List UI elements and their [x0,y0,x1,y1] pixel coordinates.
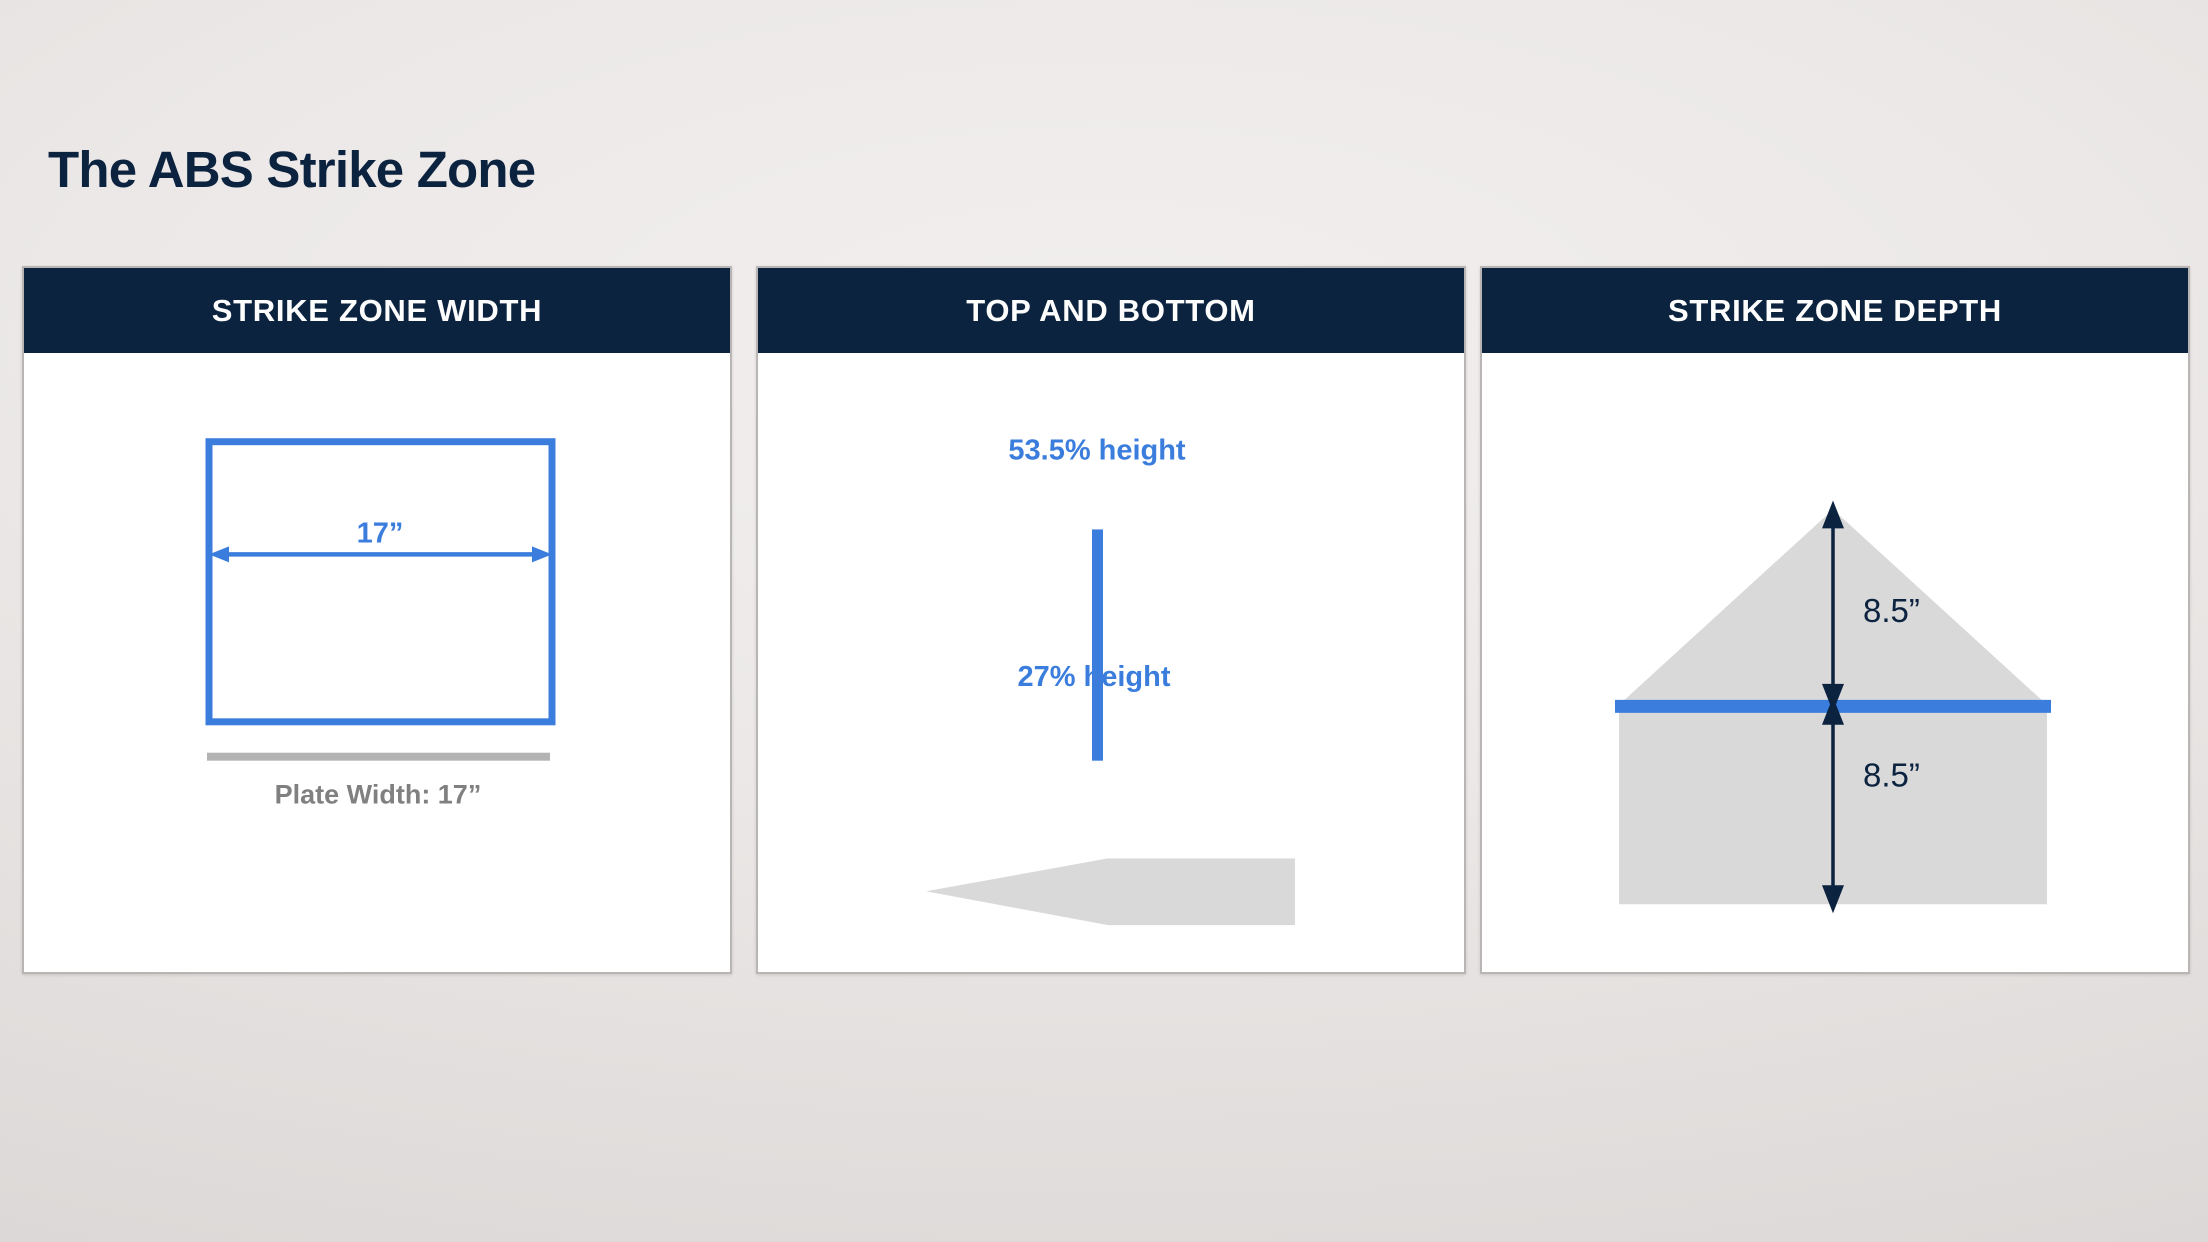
panel-top-and-bottom: TOP AND BOTTOM 53.5% height 27% height [756,266,1466,974]
panel-header-strike-zone-depth: STRIKE ZONE DEPTH [1482,268,2188,353]
plate-width-bar [207,753,550,761]
panel-header-label: TOP AND BOTTOM [966,293,1255,329]
panel-strike-zone-width: STRIKE ZONE WIDTH 17” Plate Width: 17” [22,266,732,974]
panel-strike-zone-depth: STRIKE ZONE DEPTH 8.5” 8.5” [1480,266,2190,974]
home-plate-profile-shape [926,858,1295,925]
zone-bottom-label: 27% height [1017,661,1170,693]
panel-header-strike-zone-width: STRIKE ZONE WIDTH [24,268,730,353]
strike-zone-vertical-bar [1092,529,1103,760]
strike-zone-square [209,442,552,722]
lower-depth-label: 8.5” [1863,757,1920,794]
panel-header-label: STRIKE ZONE DEPTH [1668,293,2002,329]
width-dimension-label: 17” [357,517,404,549]
top-and-bottom-diagram: 53.5% height 27% height [758,353,1464,972]
zone-top-label: 53.5% height [1008,435,1186,467]
plate-width-caption: Plate Width: 17” [275,780,482,810]
panel-header-top-and-bottom: TOP AND BOTTOM [758,268,1464,353]
strike-zone-depth-diagram: 8.5” 8.5” [1482,353,2188,972]
page-title: The ABS Strike Zone [48,140,535,199]
upper-depth-label: 8.5” [1863,592,1920,629]
panel-body-top-and-bottom: 53.5% height 27% height [758,353,1464,972]
panel-header-label: STRIKE ZONE WIDTH [212,293,543,329]
panel-body-strike-zone-width: 17” Plate Width: 17” [24,353,730,972]
panel-body-strike-zone-depth: 8.5” 8.5” [1482,353,2188,972]
strike-zone-width-diagram: 17” Plate Width: 17” [24,353,730,972]
